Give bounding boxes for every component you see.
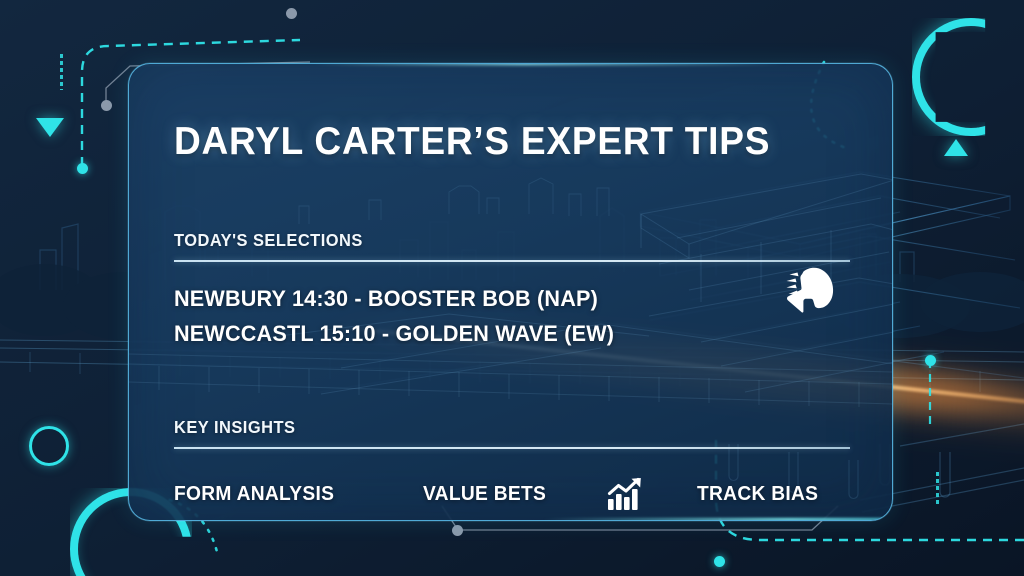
insights-heading: KEY INSIGHTS	[174, 417, 811, 438]
horse-head-icon	[773, 262, 845, 322]
selections-section: TODAY'S SELECTIONS NEWBURY 14:30 - BOOST…	[174, 230, 852, 351]
selection-row-2[interactable]: NEWCCASTL 15:10 - GOLDEN WAVE (EW)	[174, 317, 825, 352]
insight-track-bias[interactable]: TRACK BIAS	[697, 483, 818, 506]
insights-section: KEY INSIGHTS FORM ANALYSIS VALUE BETS	[174, 417, 852, 511]
growth-chart-icon	[607, 477, 643, 511]
insight-value-bets[interactable]: VALUE BETS	[423, 483, 546, 506]
selections-heading: TODAY'S SELECTIONS	[174, 230, 811, 251]
expert-tips-card: DARYL CARTER’S EXPERT TIPS TODAY'S SELEC…	[128, 63, 893, 521]
insights-divider	[174, 447, 850, 449]
insight-form-analysis[interactable]: FORM ANALYSIS	[174, 483, 334, 506]
slide-canvas: DARYL CARTER’S EXPERT TIPS TODAY'S SELEC…	[0, 0, 1024, 576]
selections-list: NEWBURY 14:30 - BOOSTER BOB (NAP) NEWCCA…	[174, 282, 852, 351]
page-title: DARYL CARTER’S EXPERT TIPS	[174, 120, 818, 164]
selection-row-1[interactable]: NEWBURY 14:30 - BOOSTER BOB (NAP)	[174, 282, 825, 317]
insights-row: FORM ANALYSIS VALUE BETS	[174, 477, 850, 511]
selections-divider	[174, 260, 850, 262]
